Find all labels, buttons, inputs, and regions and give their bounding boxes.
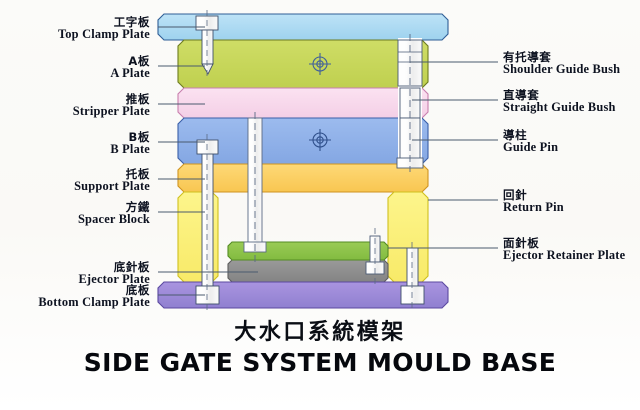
cap-screw-counterbore-right xyxy=(401,286,424,304)
cap-screw-shank-top xyxy=(202,30,213,64)
label-top-clamp-plate: 工字板 Top Clamp Plate xyxy=(0,16,150,42)
label-spacer-block-en: Spacer Block xyxy=(0,213,150,226)
label-shoulder-guide-bush: 有托導套 Shoulder Guide Bush xyxy=(503,51,620,77)
label-return-pin: 回針 Return Pin xyxy=(503,189,564,215)
label-guide-pin-en: Guide Pin xyxy=(503,141,558,154)
title-english: SIDE GATE SYSTEM MOULD BASE xyxy=(0,348,640,377)
label-guide-pin: 導柱 Guide Pin xyxy=(503,129,558,155)
label-ejector-retainer-plate-en: Ejector Retainer Plate xyxy=(503,249,625,262)
label-a-plate: A板 A Plate xyxy=(0,55,150,81)
cap-screw-shank-right xyxy=(407,248,418,286)
plate-support-plate xyxy=(178,164,428,192)
label-b-plate-en: B Plate xyxy=(0,143,150,156)
label-support-plate: 托板 Support Plate xyxy=(0,168,150,194)
mould-base-diagram-page: 工字板 Top Clamp Plate A板 A Plate 推板 Stripp… xyxy=(0,0,640,410)
label-stripper-plate: 推板 Stripper Plate xyxy=(0,93,150,119)
title-chinese: 大水口系統模架 xyxy=(0,314,640,346)
label-spacer-block: 方鐵 Spacer Block xyxy=(0,201,150,227)
label-top-clamp-plate-en: Top Clamp Plate xyxy=(0,28,150,41)
label-straight-guide-bush-en: Straight Guide Bush xyxy=(503,101,616,114)
plate-stripper-plate xyxy=(178,88,428,118)
label-straight-guide-bush: 直導套 Straight Guide Bush xyxy=(503,89,616,115)
label-shoulder-guide-bush-en: Shoulder Guide Bush xyxy=(503,63,620,76)
label-bottom-clamp-plate: 底板 Bottom Clamp Plate xyxy=(0,284,150,310)
label-a-plate-en: A Plate xyxy=(0,67,150,80)
plate-a-plate xyxy=(178,40,428,88)
label-stripper-plate-en: Stripper Plate xyxy=(0,105,150,118)
label-bottom-clamp-plate-en: Bottom Clamp Plate xyxy=(0,296,150,309)
label-b-plate: B板 B Plate xyxy=(0,131,150,157)
diagram-title: 大水口系統模架 SIDE GATE SYSTEM MOULD BASE xyxy=(0,314,640,377)
cap-screw-shank-left xyxy=(202,146,213,286)
plate-ejector-plate xyxy=(228,260,388,282)
label-return-pin-en: Return Pin xyxy=(503,201,564,214)
label-support-plate-en: Support Plate xyxy=(0,180,150,193)
label-ejector-retainer-plate: 面針板 Ejector Retainer Plate xyxy=(503,237,625,263)
